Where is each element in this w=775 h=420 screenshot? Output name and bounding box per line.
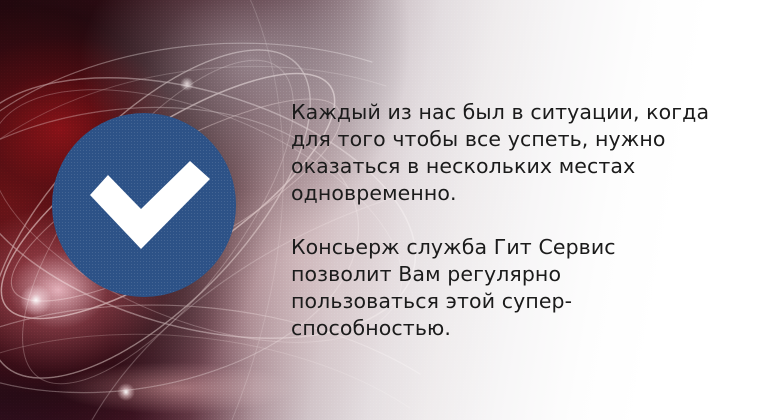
check-badge xyxy=(52,113,236,297)
checkmark-icon xyxy=(52,113,236,297)
paragraph-2: Консьерж служба Гит Сервис позволит Вам … xyxy=(291,234,711,342)
copy-block: Каждый из нас был в ситуации, когда для … xyxy=(291,99,711,342)
paragraph-1: Каждый из нас был в ситуации, когда для … xyxy=(291,99,711,207)
promo-slide: Каждый из нас был в ситуации, когда для … xyxy=(0,0,775,420)
